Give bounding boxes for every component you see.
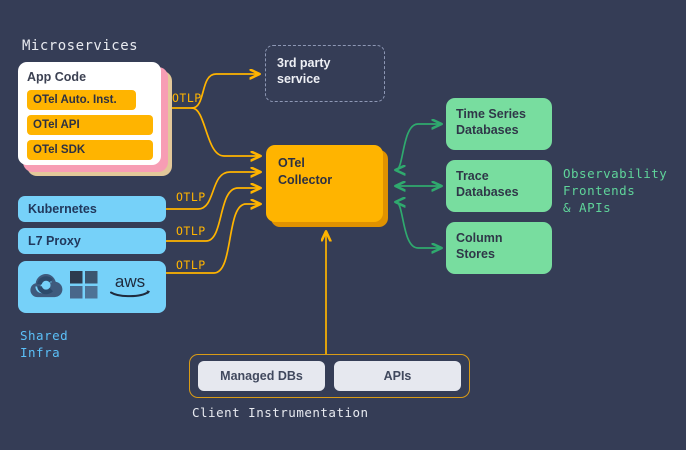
- otlp-label-cloud: OTLP: [176, 258, 206, 272]
- diagram-canvas: Microservices App Code OTel Auto. Inst. …: [0, 0, 686, 450]
- infra-item-l7-proxy-label: L7 Proxy: [28, 234, 81, 248]
- third-party-service-box: 3rd party service: [265, 45, 385, 102]
- svg-text:aws: aws: [115, 272, 145, 291]
- infra-item-kubernetes-label: Kubernetes: [28, 202, 97, 216]
- destination-trace-databases: Trace Databases: [446, 160, 552, 212]
- infra-item-l7-proxy: L7 Proxy: [18, 228, 166, 254]
- observability-caption-line1: Observability: [563, 165, 667, 182]
- third-party-line2: service: [277, 71, 384, 87]
- destination-trace-line2: Databases: [456, 184, 552, 200]
- otlp-label-l7-proxy: OTLP: [176, 224, 206, 238]
- aws-icon: aws: [105, 270, 155, 305]
- third-party-line1: 3rd party: [277, 55, 384, 71]
- observability-caption: Observability Frontends & APIs: [563, 165, 667, 216]
- app-code-layer-api: OTel API: [27, 115, 153, 135]
- observability-caption-line2: Frontends: [563, 182, 667, 199]
- otel-collector-box: OTel Collector: [266, 145, 383, 222]
- app-code-panel: App Code OTel Auto. Inst. OTel API OTel …: [18, 62, 161, 165]
- destination-time-series-line2: Databases: [456, 122, 552, 138]
- destination-trace-line1: Trace: [456, 168, 552, 184]
- otel-collector-node: OTel Collector: [266, 145, 388, 227]
- client-instrumentation-caption: Client Instrumentation: [192, 405, 369, 420]
- google-cloud-icon: [29, 270, 63, 305]
- client-box-managed-dbs-label: Managed DBs: [220, 369, 303, 383]
- destination-column-stores-line1: Column: [456, 230, 552, 246]
- otel-collector-line2: Collector: [278, 172, 383, 189]
- destination-time-series-line1: Time Series: [456, 106, 552, 122]
- otlp-label-kubernetes: OTLP: [176, 190, 206, 204]
- infra-item-kubernetes: Kubernetes: [18, 196, 166, 222]
- app-code-title: App Code: [27, 70, 154, 84]
- shared-infra-caption-line1: Shared: [20, 327, 68, 344]
- app-code-layer-auto-inst: OTel Auto. Inst.: [27, 90, 136, 110]
- destination-column-stores: Column Stores: [446, 222, 552, 274]
- app-code-card: App Code OTel Auto. Inst. OTel API OTel …: [18, 62, 163, 172]
- azure-icon: [69, 270, 99, 305]
- microservices-caption: Microservices: [22, 38, 138, 54]
- otel-collector-line1: OTel: [278, 155, 383, 172]
- otlp-label-app-code: OTLP: [172, 91, 202, 105]
- client-box-apis: APIs: [334, 361, 461, 391]
- destination-time-series-databases: Time Series Databases: [446, 98, 552, 150]
- app-code-layer-sdk: OTel SDK: [27, 140, 153, 160]
- client-box-apis-label: APIs: [384, 369, 412, 383]
- client-box-managed-dbs: Managed DBs: [198, 361, 325, 391]
- client-instrumentation-group: Managed DBs APIs: [189, 354, 470, 398]
- shared-infra-caption-line2: Infra: [20, 344, 68, 361]
- observability-caption-line3: & APIs: [563, 199, 667, 216]
- cloud-providers-box: aws: [18, 261, 166, 313]
- destination-column-stores-line2: Stores: [456, 246, 552, 262]
- shared-infra-caption: Shared Infra: [20, 327, 68, 361]
